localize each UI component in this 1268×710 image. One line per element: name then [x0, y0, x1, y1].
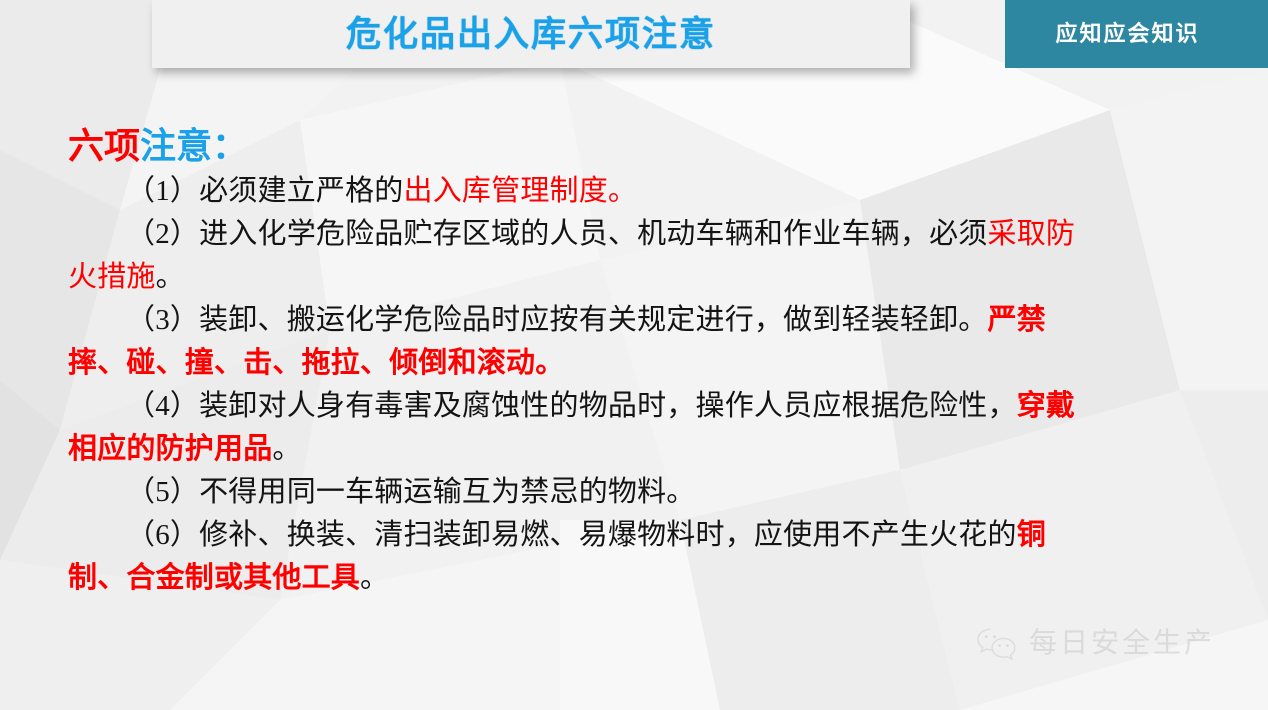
item-number: （6） [126, 519, 199, 551]
item-number: （5） [126, 476, 199, 508]
badge-label: 应知应会知识 [1055, 23, 1217, 45]
slide-title-bar: 危化品出入库六项注意 [152, 0, 910, 68]
list-item: （4）装卸对人身有毒害及腐蚀性的物品时，操作人员应根据危险性，穿戴相应的防护用品… [68, 385, 1080, 471]
watermark: 每日安全生产 [975, 626, 1215, 662]
item-text: 装卸、搬运化学危险品时应按有关规定进行，做到轻装轻卸。 [199, 304, 987, 336]
item-text: 。 [156, 261, 185, 293]
item-text: 必须建立严格的 [199, 175, 403, 207]
list-item: （1）必须建立严格的出入库管理制度。 [68, 170, 1080, 213]
heading-part-blue: 注意： [140, 125, 248, 166]
section-heading: 六项注意： [68, 126, 1080, 166]
wechat-icon [975, 626, 1019, 662]
item-text: 进入化学危险品贮存区域的人员、机动车辆和作业车辆，必须 [199, 218, 987, 250]
list-item: （3）装卸、搬运化学危险品时应按有关规定进行，做到轻装轻卸。严禁摔、碰、撞、击、… [68, 299, 1080, 385]
item-number: （4） [126, 390, 199, 422]
item-number: （2） [126, 218, 199, 250]
status-badge: 应知应会知识 [1005, 0, 1268, 68]
item-number: （1） [126, 175, 199, 207]
item-text-highlight: 出入库管理制度。 [404, 175, 638, 207]
item-text: 不得用同一车辆运输互为禁忌的物料。 [199, 476, 695, 508]
heading-part-red: 六项 [68, 125, 140, 166]
item-text: 。 [360, 562, 389, 594]
slide-content: 六项注意： （1）必须建立严格的出入库管理制度。 （2）进入化学危险品贮存区域的… [68, 126, 1080, 600]
list-item: （2）进入化学危险品贮存区域的人员、机动车辆和作业车辆，必须采取防火措施。 [68, 213, 1080, 299]
item-text: 装卸对人身有毒害及腐蚀性的物品时，操作人员应根据危险性， [199, 390, 1017, 422]
page-title: 危化品出入库六项注意 [346, 17, 716, 52]
list-item: （6）修补、换装、清扫装卸易燃、易爆物料时，应使用不产生火花的铜制、合金制或其他… [68, 514, 1080, 600]
item-number: （3） [126, 304, 199, 336]
list-item: （5）不得用同一车辆运输互为禁忌的物料。 [68, 471, 1080, 514]
item-text: 。 [272, 433, 301, 465]
watermark-label: 每日安全生产 [1029, 630, 1215, 658]
item-text: 修补、换装、清扫装卸易燃、易爆物料时，应使用不产生火花的 [199, 519, 1017, 551]
slide-canvas: 危化品出入库六项注意 应知应会知识 六项注意： （1）必须建立严格的出入库管理制… [0, 0, 1268, 710]
